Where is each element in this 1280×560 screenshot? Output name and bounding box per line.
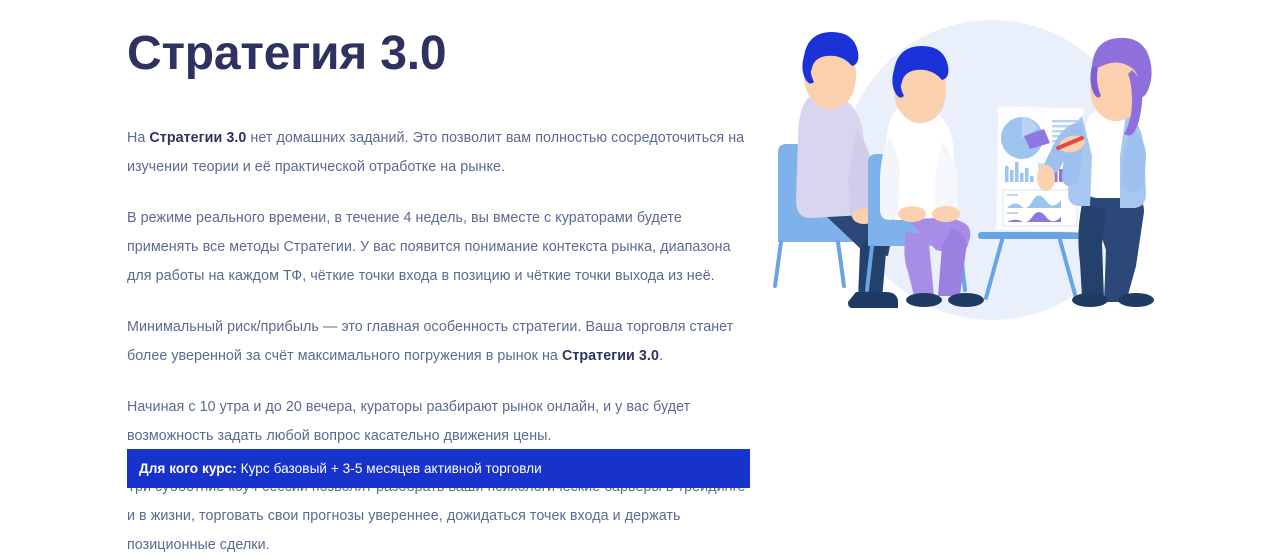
paragraph: На Стратегии 3.0 нет домашних заданий. Э… [127, 124, 751, 182]
paragraph: Начиная с 10 утра и до 20 вечера, курато… [127, 393, 751, 451]
paragraph: Минимальный риск/прибыль — это главная о… [127, 313, 751, 371]
business-presentation-illustration [760, 10, 1190, 340]
emphasis-text: Стратегии 3.0 [562, 348, 659, 364]
paragraph: В режиме реального времени, в течение 4 … [127, 204, 751, 291]
easel-tray [978, 232, 1092, 239]
shoe [948, 293, 984, 307]
emphasis-text: Стратегии 3.0 [149, 130, 246, 146]
callout-text: Для кого курс: Курс базовый + 3-5 месяце… [139, 460, 542, 478]
hand [1037, 165, 1055, 191]
page-title: Стратегия 3.0 [127, 26, 446, 82]
page-root: Стратегия 3.0 На Стратегии 3.0 нет домаш… [0, 0, 1280, 508]
body-copy: На Стратегии 3.0 нет домашних заданий. Э… [127, 124, 751, 560]
hand [898, 206, 926, 222]
audience-callout-banner: Для кого курс: Курс базовый + 3-5 месяце… [127, 449, 750, 488]
plain-text: На [127, 130, 149, 146]
plain-text: . [659, 348, 663, 364]
callout-label: Для кого курс: [139, 461, 237, 476]
plain-text: Начиная с 10 утра и до 20 вечера, курато… [127, 399, 690, 444]
hand [932, 206, 960, 222]
shoe [1118, 293, 1154, 307]
plain-text: Три субботние коуч-сессии позволят разоб… [127, 479, 746, 553]
shoe [1072, 293, 1108, 307]
shoe [906, 293, 942, 307]
callout-value: Курс базовый + 3-5 месяцев активной торг… [241, 461, 542, 476]
plain-text: В режиме реального времени, в течение 4 … [127, 210, 731, 284]
